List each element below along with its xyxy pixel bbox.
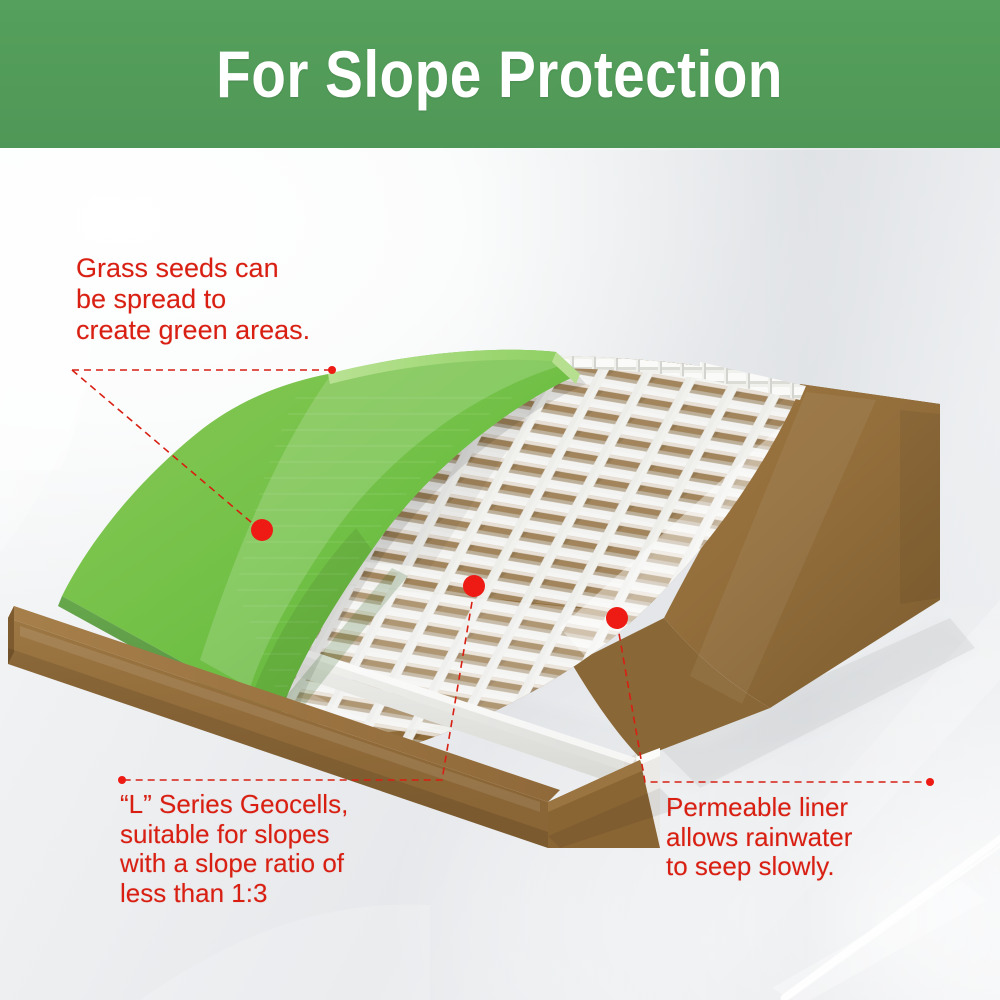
annotation-grass-seeds: Grass seeds can be spread to create gree…	[76, 253, 310, 345]
slope-protection-infographic: For Slope Protection	[0, 0, 1000, 1000]
annotation-permeable-liner: Permeable liner allows rainwater to seep…	[666, 793, 852, 882]
annotation-geocells: “L” Series Geocells, suitable for slopes…	[120, 790, 348, 909]
header-banner: For Slope Protection	[0, 0, 1000, 148]
page-title: For Slope Protection	[217, 41, 784, 107]
